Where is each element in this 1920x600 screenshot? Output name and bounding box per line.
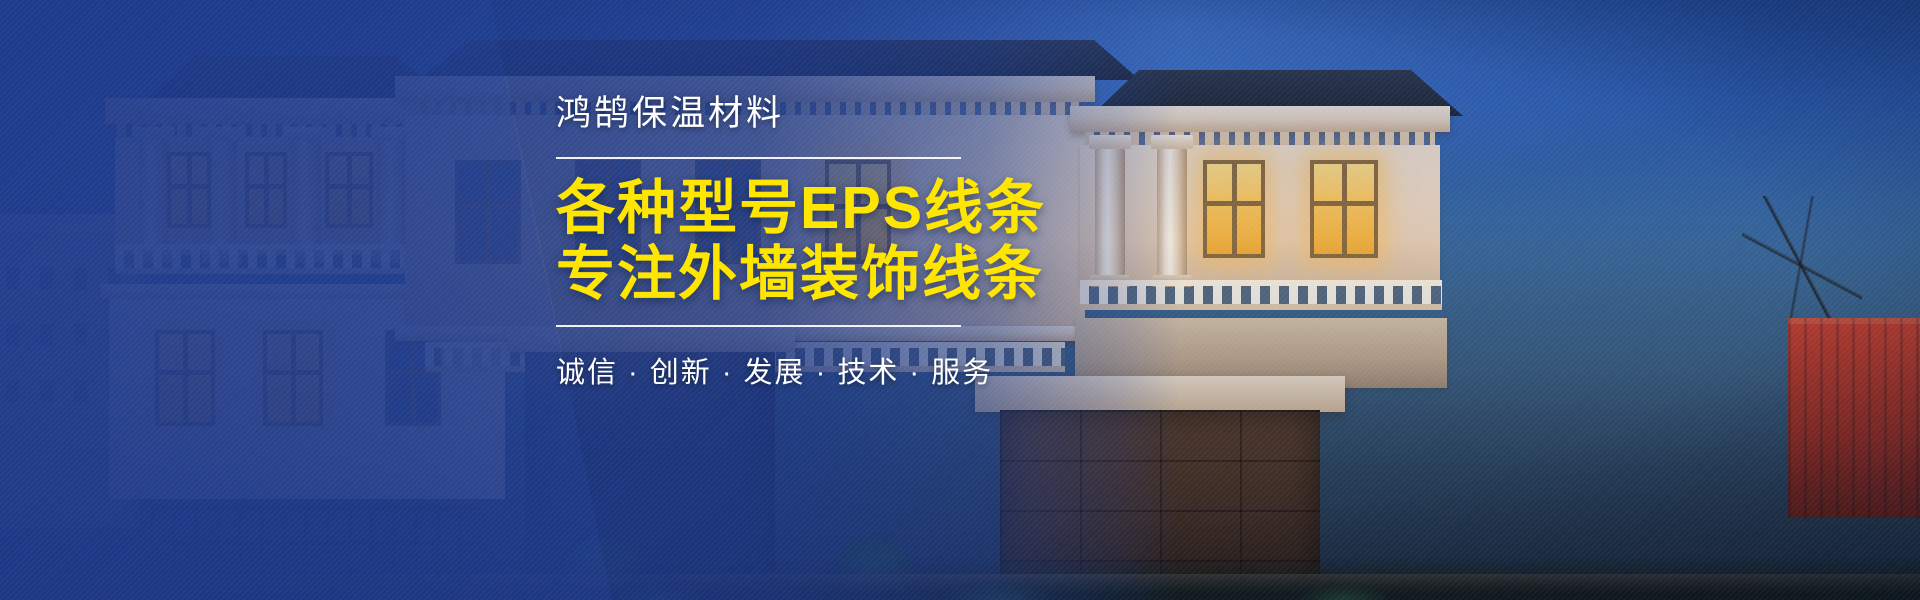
column <box>377 140 407 252</box>
headline-line-2: 专注外墙装饰线条 <box>556 241 1316 307</box>
divider-upper <box>556 157 961 159</box>
distant-window <box>74 380 87 402</box>
window-transom <box>155 370 215 375</box>
window-transom <box>245 184 287 189</box>
window-mullion <box>1342 160 1347 258</box>
window-glowing <box>167 152 211 228</box>
window-mullion <box>187 152 192 228</box>
distant-window <box>6 324 19 346</box>
distant-window <box>40 380 53 402</box>
window-transom <box>325 184 373 189</box>
window-transom <box>263 370 323 375</box>
iron-fence <box>150 506 480 578</box>
tree-branch <box>1742 196 1862 326</box>
distant-window <box>6 380 19 402</box>
window-mullion <box>411 330 416 426</box>
distant-window <box>40 324 53 346</box>
window-glowing <box>155 330 215 426</box>
headline-line-1: 各种型号EPS线条 <box>556 175 1316 241</box>
window-transom <box>455 204 521 209</box>
distant-window <box>6 268 19 290</box>
window-glowing <box>1310 160 1378 258</box>
distant-window <box>40 268 53 290</box>
window-mullion <box>183 330 188 426</box>
distant-window <box>74 324 87 346</box>
window-mullion <box>291 330 296 426</box>
window-mullion <box>264 152 269 228</box>
window-glowing <box>245 152 287 228</box>
tagline: 诚信 · 创新 · 发展 · 技术 · 服务 <box>556 349 1316 391</box>
window-transom <box>167 184 211 189</box>
divider-lower <box>556 325 961 327</box>
window-mullion <box>486 160 491 264</box>
window-transom <box>1310 201 1378 206</box>
promo-banner: 鸿鹄保温材料 各种型号EPS线条 专注外墙装饰线条 诚信 · 创新 · 发展 ·… <box>0 0 1920 600</box>
window-mullion <box>347 152 352 228</box>
column <box>291 140 321 252</box>
distant-window <box>74 268 87 290</box>
window-glowing <box>263 330 323 426</box>
column <box>139 140 169 252</box>
window-dim <box>455 160 521 264</box>
red-container <box>1788 318 1920 518</box>
column <box>207 140 237 252</box>
brand-name: 鸿鹄保温材料 <box>556 96 1316 133</box>
window-glowing <box>325 152 373 228</box>
roof-center <box>395 40 1155 80</box>
banner-copy: 鸿鹄保温材料 各种型号EPS线条 专注外墙装饰线条 诚信 · 创新 · 发展 ·… <box>556 96 1316 391</box>
